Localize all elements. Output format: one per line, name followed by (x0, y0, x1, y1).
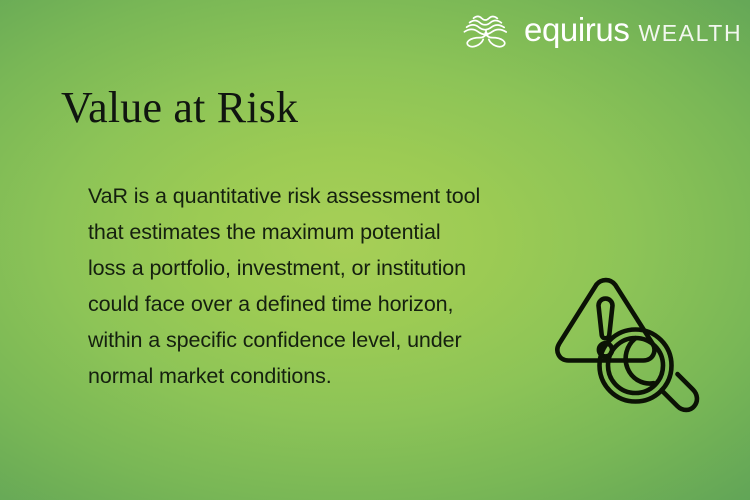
body-line: could face over a defined time horizon, (88, 286, 528, 322)
brand-subtitle: WEALTH (638, 22, 742, 45)
body-line: within a specific confidence level, unde… (88, 322, 528, 358)
brand-lockup: equirus WEALTH (459, 9, 742, 49)
brand-name: equirus (524, 13, 629, 46)
body-line: that estimates the maximum potential (88, 214, 528, 250)
body-line: normal market conditions. (88, 358, 528, 394)
brand-wordmark: equirus WEALTH (524, 13, 742, 46)
page-title: Value at Risk (61, 84, 298, 132)
magnifying-glass-icon (600, 330, 697, 410)
slide-canvas: equirus WEALTH Value at Risk VaR is a qu… (0, 0, 750, 500)
equirus-tree-logo-icon (459, 10, 513, 48)
body-line: loss a portfolio, investment, or institu… (88, 250, 528, 286)
body-line: VaR is a quantitative risk assessment to… (88, 178, 528, 214)
body-paragraph: VaR is a quantitative risk assessment to… (88, 178, 528, 394)
risk-warning-magnifier-illustration (531, 272, 707, 420)
